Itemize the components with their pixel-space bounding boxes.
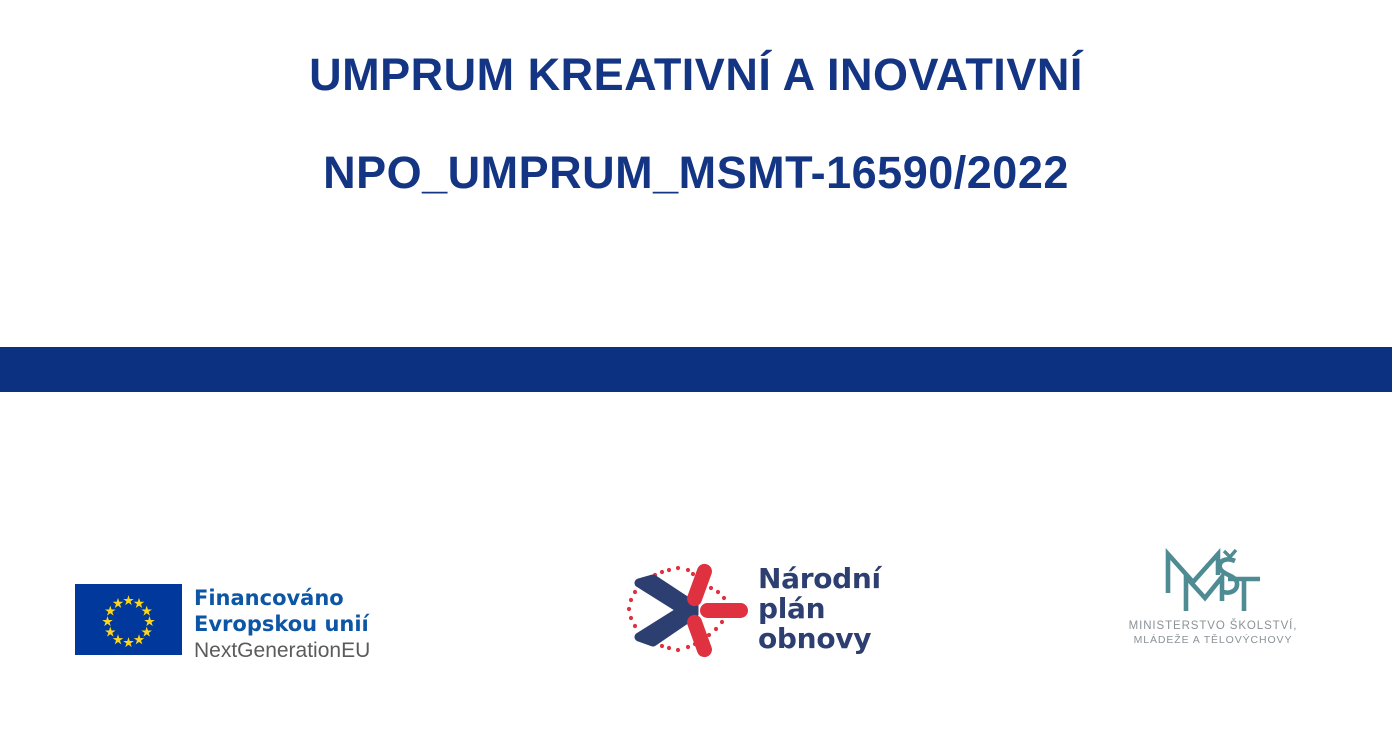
npo-logo-line3: obnovy bbox=[758, 624, 881, 654]
eu-flag-icon bbox=[75, 584, 182, 655]
npo-arrow-leaf-icon bbox=[612, 554, 752, 664]
npo-logo-line2: plán bbox=[758, 594, 881, 624]
msmt-subtitle-line2: MLÁDEŽE A TĚLOVÝCHOVY bbox=[1120, 633, 1306, 647]
decorative-blue-band bbox=[0, 347, 1392, 392]
page-title: UMPRUM KREATIVNÍ A INOVATIVNÍ bbox=[0, 52, 1392, 97]
msmt-monogram-icon bbox=[1156, 545, 1272, 615]
slide-title-block: UMPRUM KREATIVNÍ A INOVATIVNÍ NPO_UMPRUM… bbox=[0, 52, 1392, 195]
npo-logo-text: Národní plán obnovy bbox=[758, 564, 881, 654]
eu-logo-text: Financováno Evropskou unií NextGeneratio… bbox=[194, 584, 370, 664]
msmt-logo: MINISTERSTVO ŠKOLSTVÍ, MLÁDEŽE A TĚLOVÝC… bbox=[1120, 545, 1306, 658]
msmt-subtitle-line1: MINISTERSTVO ŠKOLSTVÍ, bbox=[1120, 619, 1306, 633]
page-subtitle: NPO_UMPRUM_MSMT-16590/2022 bbox=[0, 150, 1392, 195]
npo-logo-line1: Národní bbox=[758, 564, 881, 594]
eu-logo-line3: NextGenerationEU bbox=[194, 638, 370, 664]
eu-funding-logo: Financováno Evropskou unií NextGeneratio… bbox=[75, 584, 370, 664]
eu-logo-line1: Financováno bbox=[194, 585, 370, 611]
npo-logo: Národní plán obnovy bbox=[612, 554, 881, 664]
eu-logo-line2: Evropskou unií bbox=[194, 611, 370, 637]
msmt-logo-subtitle: MINISTERSTVO ŠKOLSTVÍ, MLÁDEŽE A TĚLOVÝC… bbox=[1120, 619, 1306, 647]
funding-logo-strip: Financováno Evropskou unií NextGeneratio… bbox=[0, 534, 1392, 684]
